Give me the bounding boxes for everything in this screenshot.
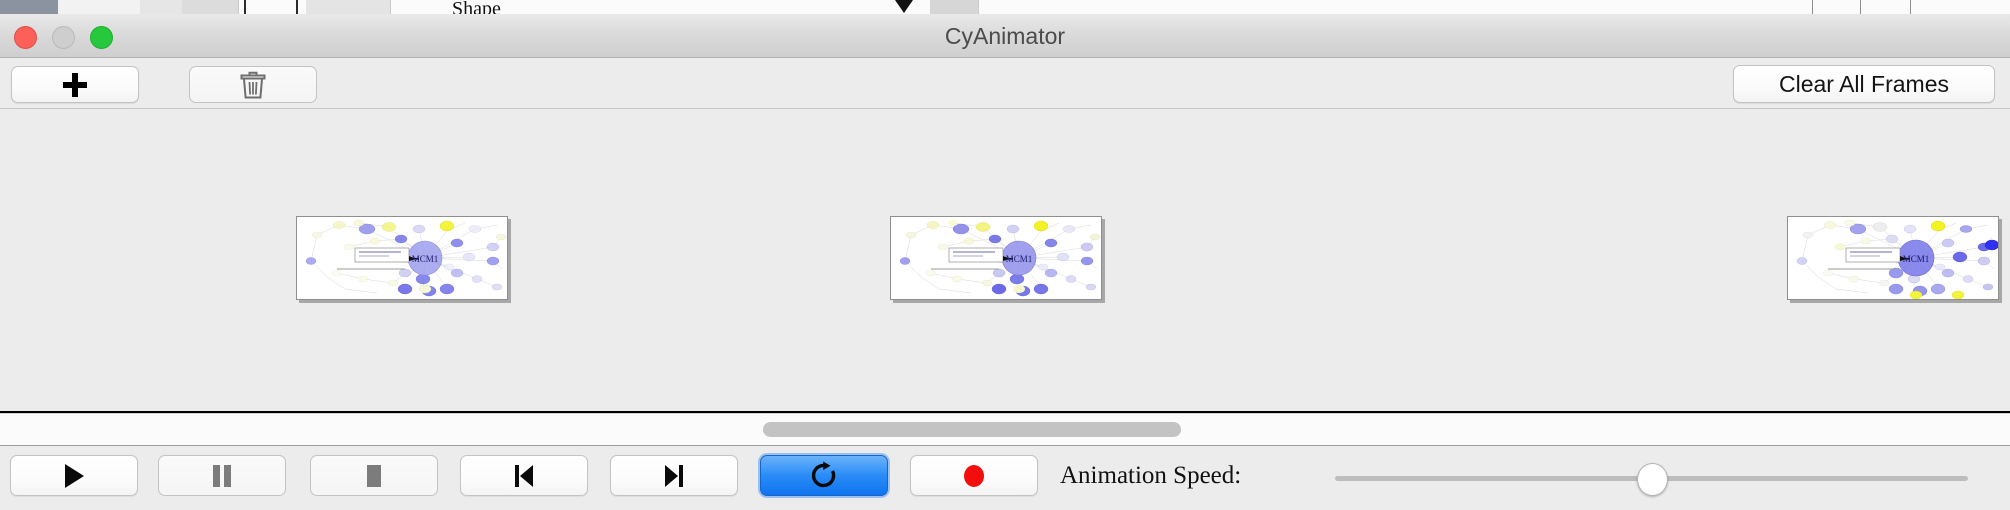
title-bar: CyAnimator [0, 14, 2010, 58]
add-frame-button[interactable] [11, 66, 139, 103]
background-window-label: Shape [452, 0, 501, 15]
bg-tab-dark [0, 0, 59, 14]
bg-tick-1 [244, 0, 246, 14]
bg-slash-2 [1860, 0, 1861, 14]
bg-tab-2 [140, 0, 183, 14]
frame-toolbar: Clear All Frames [0, 58, 2010, 109]
stop-icon [361, 462, 387, 490]
bg-wedge-icon [895, 0, 913, 13]
skip-to-start-button[interactable] [460, 455, 588, 496]
timeline-scrollbar[interactable] [0, 413, 2010, 446]
network-graph-thumbnail: MCM1 [1788, 217, 1998, 299]
loop-icon [810, 461, 838, 491]
animation-speed-label: Animation Speed: [1060, 455, 1241, 496]
pause-button[interactable] [158, 455, 286, 496]
loop-button[interactable] [760, 455, 888, 496]
delete-frame-button[interactable] [189, 66, 317, 103]
window-title: CyAnimator [0, 14, 2010, 58]
bg-tab-1 [58, 0, 141, 14]
bg-slash-1 [1812, 0, 1813, 14]
plus-icon [63, 73, 87, 97]
bg-tab-4 [306, 0, 391, 14]
animation-speed-slider-knob[interactable] [1637, 463, 1668, 496]
network-graph-thumbnail: MCM1 [297, 217, 507, 299]
clear-all-frames-label: Clear All Frames [1779, 71, 1949, 98]
record-icon [960, 462, 988, 490]
pause-icon [209, 462, 235, 490]
background-window-strip: Shape [0, 0, 2010, 15]
stop-button[interactable] [310, 455, 438, 496]
skip-forward-icon [661, 462, 687, 490]
svg-text:MCM1: MCM1 [412, 254, 439, 264]
play-button[interactable] [10, 455, 138, 496]
play-icon [61, 462, 87, 490]
timeline-panel[interactable]: MCM1 [0, 109, 2010, 413]
bg-tick-2 [296, 0, 298, 14]
trash-icon [240, 70, 266, 100]
network-graph-thumbnail: MCM1 [891, 217, 1101, 299]
frame-thumbnail[interactable]: MCM1 [890, 216, 1102, 300]
bg-slash-3 [1910, 0, 1911, 14]
frame-thumbnail[interactable]: MCM1 [1787, 216, 1999, 300]
bg-tab-3 [182, 0, 239, 14]
bg-tab-5 [930, 0, 979, 14]
cyanimator-window: Shape CyAnimator Clear All Fra [0, 0, 2010, 510]
frame-thumbnail[interactable]: MCM1 [296, 216, 508, 300]
svg-text:MCM1: MCM1 [1006, 254, 1033, 264]
skip-back-icon [511, 462, 537, 490]
scrollbar-thumb[interactable] [763, 422, 1181, 437]
skip-to-end-button[interactable] [610, 455, 738, 496]
svg-text:MCM1: MCM1 [1903, 254, 1930, 264]
record-button[interactable] [910, 455, 1038, 496]
clear-all-frames-button[interactable]: Clear All Frames [1733, 65, 1995, 103]
